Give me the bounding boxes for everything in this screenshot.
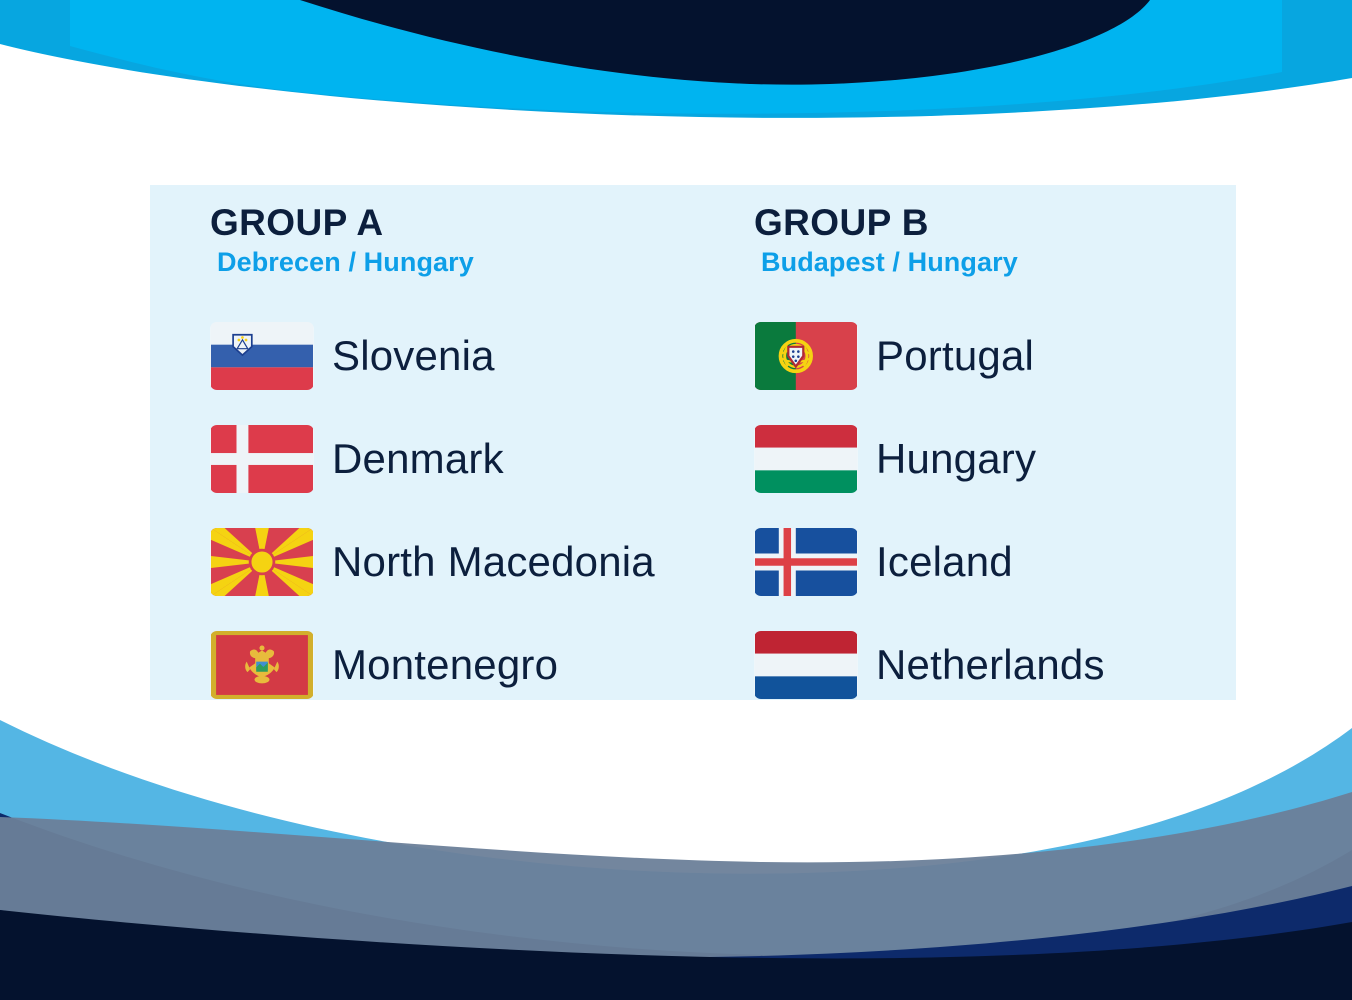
flag-north-macedonia-icon [210, 528, 314, 596]
team-row[interactable]: Slovenia [210, 304, 693, 407]
team-row[interactable]: Montenegro [210, 613, 693, 716]
team-name: Montenegro [332, 641, 558, 689]
bottom-wave-slate [0, 792, 1352, 1000]
group-a-venue: Debrecen / Hungary [217, 247, 693, 278]
top-wave-cyan-dark [0, 0, 1352, 118]
team-name: Denmark [332, 435, 504, 483]
bottom-wave-navy-mid [0, 813, 1352, 1000]
team-row[interactable]: North Macedonia [210, 510, 693, 613]
team-row[interactable]: Hungary [754, 407, 1236, 510]
bottom-wave-navy-mid-front [0, 886, 1352, 1000]
flag-portugal-icon [754, 322, 858, 390]
top-wave-cyan-bright [70, 0, 1282, 114]
team-row[interactable]: Denmark [210, 407, 693, 510]
flag-hungary-icon [754, 425, 858, 493]
group-column-b: GROUP B Budapest / Hungary [693, 185, 1236, 700]
flag-montenegro-icon [210, 631, 314, 699]
flag-netherlands-icon [754, 631, 858, 699]
team-name: Iceland [876, 538, 1013, 586]
team-row[interactable]: Netherlands [754, 613, 1236, 716]
group-b-team-list: Portugal Hungary [754, 304, 1236, 716]
bottom-wave-decoration [0, 700, 1352, 1000]
bottom-wave-navy-deep [0, 910, 1352, 1000]
group-b-venue: Budapest / Hungary [761, 247, 1236, 278]
team-name: Portugal [876, 332, 1034, 380]
top-wave-navy [300, 0, 1150, 85]
group-a-team-list: Slovenia Denmark [210, 304, 693, 716]
groups-panel: GROUP A Debrecen / Hungary [150, 185, 1236, 700]
group-b-title: GROUP B [754, 203, 1236, 242]
team-name: North Macedonia [332, 538, 655, 586]
team-name: Netherlands [876, 641, 1105, 689]
flag-slovenia-icon [210, 322, 314, 390]
bottom-wave-light-blue [0, 720, 1352, 1000]
top-wave-decoration [0, 0, 1352, 130]
group-a-title: GROUP A [210, 203, 693, 242]
flag-iceland-icon [754, 528, 858, 596]
group-column-a: GROUP A Debrecen / Hungary [150, 185, 693, 700]
team-name: Hungary [876, 435, 1036, 483]
team-name: Slovenia [332, 332, 495, 380]
team-row[interactable]: Iceland [754, 510, 1236, 613]
team-row[interactable]: Portugal [754, 304, 1236, 407]
flag-denmark-icon [210, 425, 314, 493]
